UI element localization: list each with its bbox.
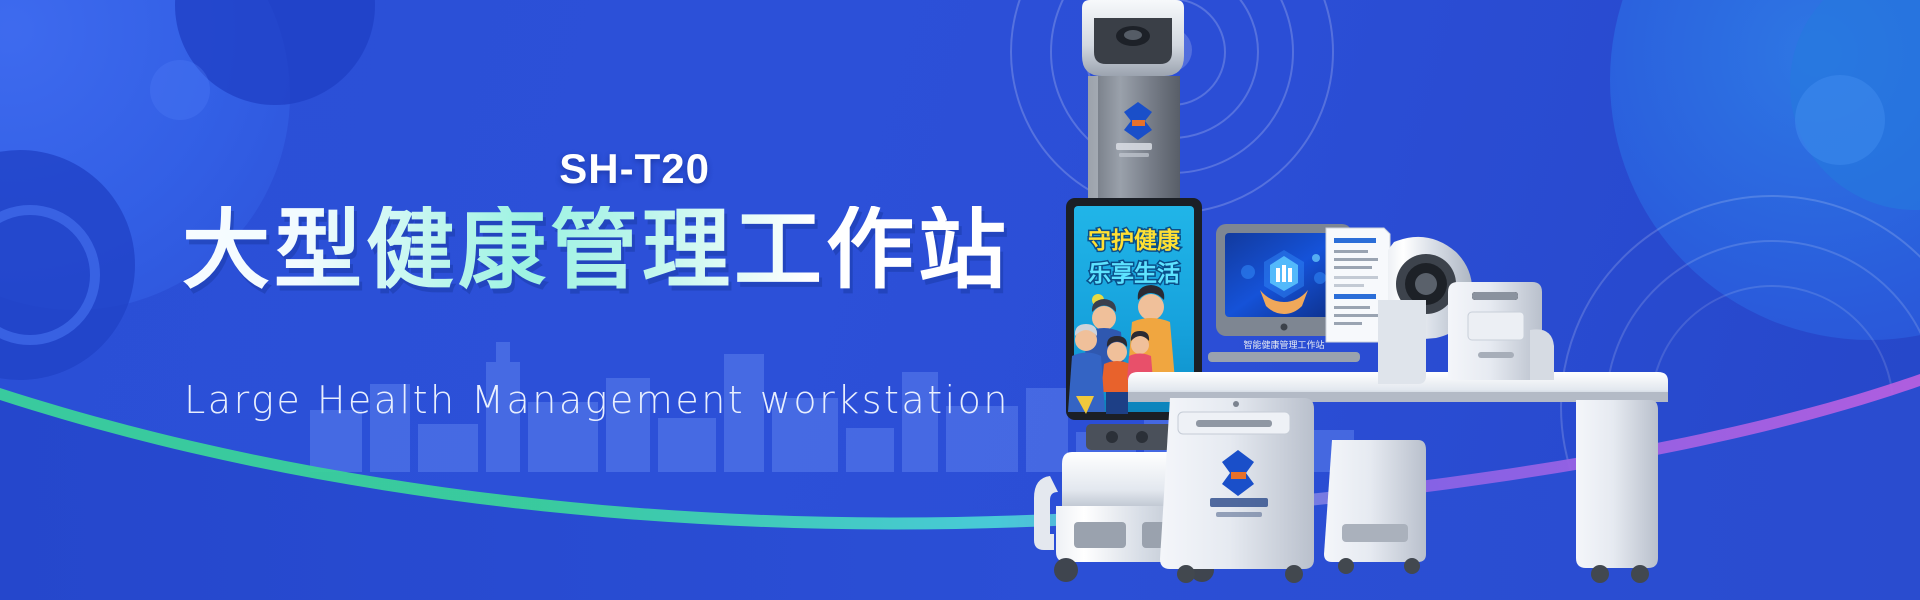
product-hero-banner: SH-T20 大型健康管理工作站 Large Health Management… [0,0,1920,600]
page-subtitle: Large Health Management workstation [0,378,1010,422]
laptop-bezel-label: 智能健康管理工作站 [1243,339,1324,351]
kiosk-ad-line2: 乐享生活 [1088,260,1180,287]
kiosk-ad-line1: 守护健康 [1088,227,1181,254]
model-code: SH-T20 [0,145,710,193]
headline-block: SH-T20 大型健康管理工作站 Large Health Management… [0,0,1030,600]
page-title: 大型健康管理工作站 [0,206,1010,294]
right-analyzer-module [1448,282,1554,380]
workstation-desk: 智能健康管理工作站 [1128,224,1668,583]
product-illustration: 守护健康 乐享生活 [1020,0,1920,600]
